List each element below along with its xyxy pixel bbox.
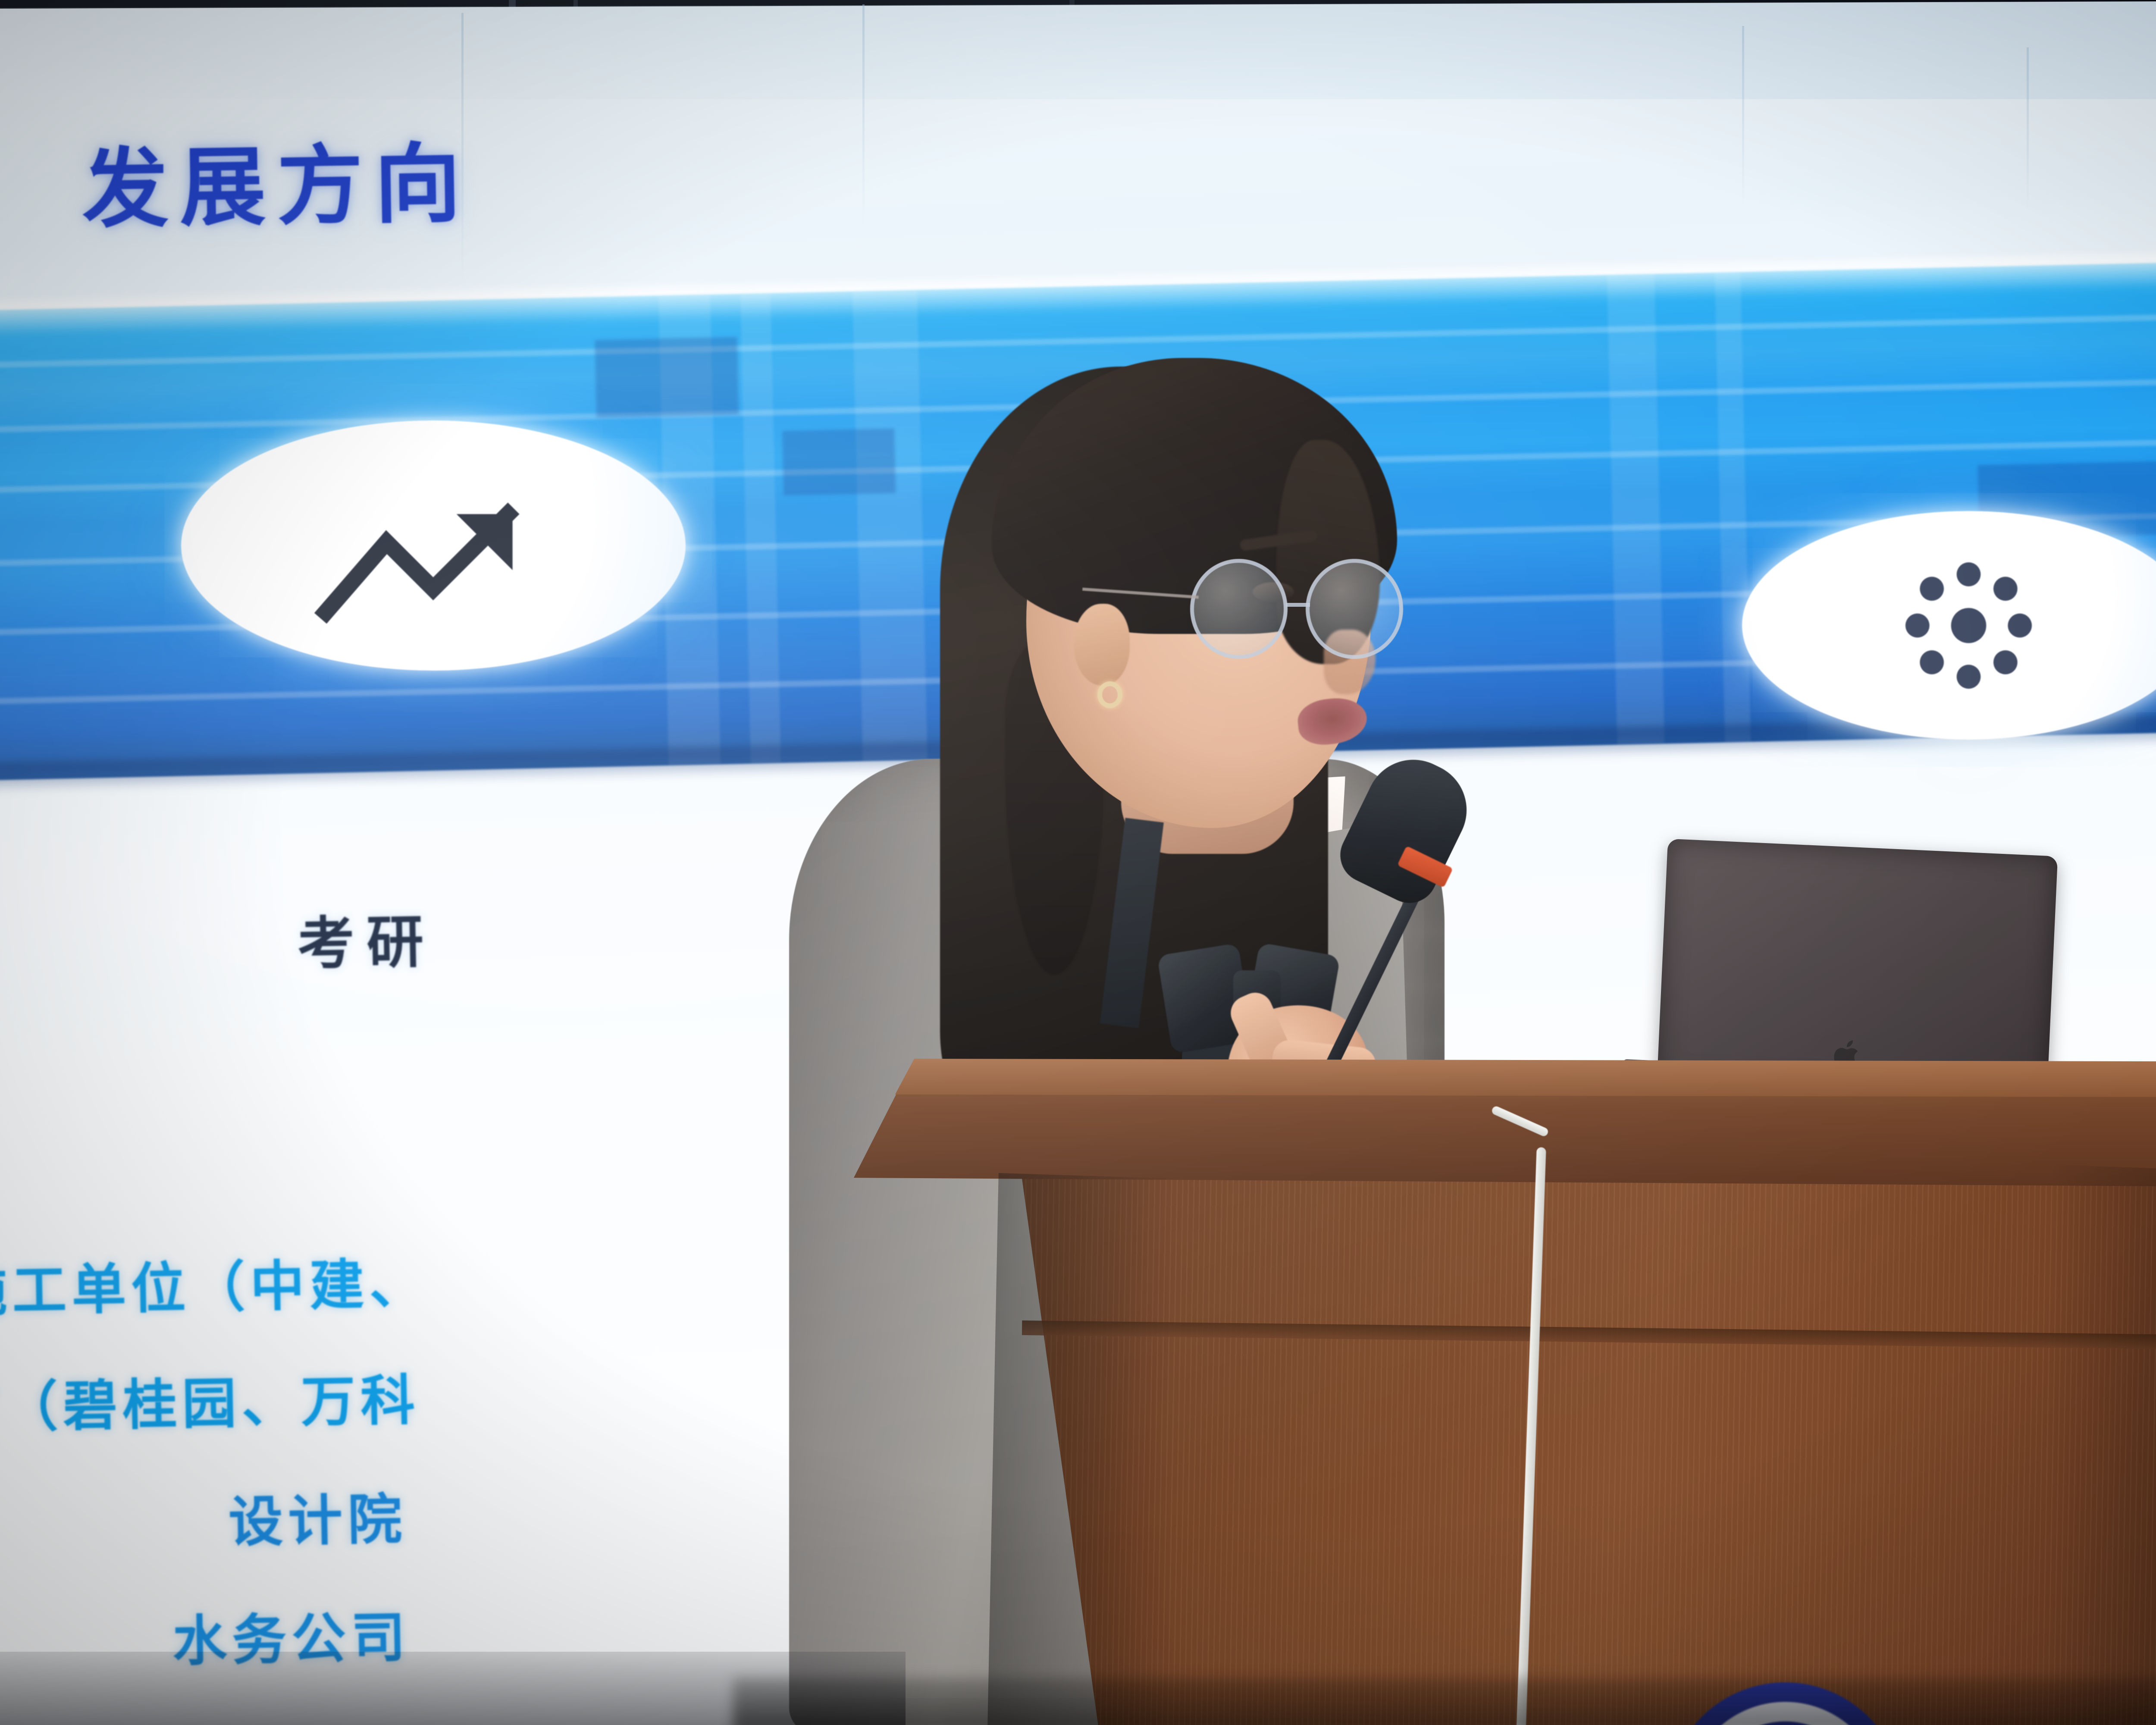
slide-title: 发展方向: [81, 113, 473, 245]
stage-shadow: [733, 1678, 2156, 1725]
glasses-lens-right: [1306, 559, 1403, 659]
banner-dark-block: [782, 428, 896, 496]
glasses-bridge: [1286, 603, 1310, 607]
trending-up-icon-circle: [181, 420, 686, 671]
podium-shadow-right: [2048, 1164, 2156, 1725]
earring: [1097, 681, 1122, 708]
slide-bullet-line: 施工单位（中建、: [0, 1240, 429, 1327]
podium-shadow-left: [987, 1173, 1173, 1725]
screen-seam-2: [862, 4, 865, 229]
banner-block: [852, 290, 928, 761]
presentation-scene: 发展方向: [0, 0, 2156, 1725]
slide-bullet-line: 设计院: [228, 1475, 407, 1557]
podium-top-edge: [854, 1059, 2156, 1098]
slide-bullet-line: 方（碧桂园、万科: [0, 1356, 421, 1443]
banner-dark-block: [595, 337, 739, 417]
screen-top-shadow: [0, 0, 2156, 99]
screen-seam-4: [2027, 47, 2029, 211]
radial-dots-icon: [1865, 546, 2073, 706]
glasses: [1190, 552, 1432, 677]
slide-label-left: 考研: [297, 896, 436, 981]
screen-seam-3: [1742, 26, 1744, 211]
glasses-lens-left: [1190, 559, 1288, 659]
ear: [1074, 604, 1130, 686]
trending-up-icon: [292, 491, 574, 631]
